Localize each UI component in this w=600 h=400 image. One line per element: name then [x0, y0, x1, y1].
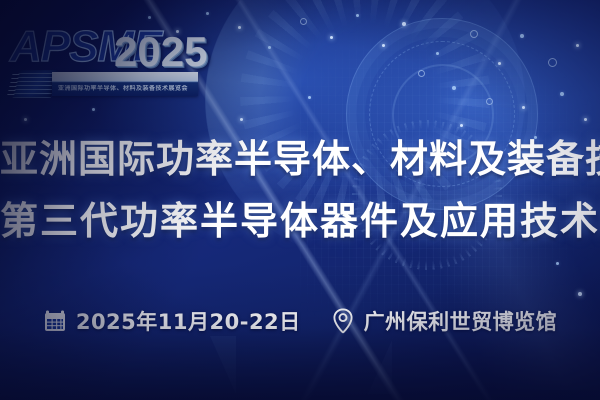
- banner-title-line-2: 第三代功率半导体器件及应用技术展览会: [0, 190, 600, 252]
- location-pin-icon: [331, 308, 355, 334]
- exhibition-banner: APSME 2025 亚洲国际功率半导体、材料及装备技术展览会 亚洲国际功率半导…: [0, 0, 600, 400]
- background-triangle-left: [210, 336, 236, 394]
- calendar-icon: [43, 309, 67, 333]
- event-date-text: 2025年11月20-22日: [76, 306, 301, 336]
- event-date-item: 2025年11月20-22日: [43, 306, 301, 336]
- logo-subtext: 亚洲国际功率半导体、材料及装备技术展览会: [58, 85, 194, 93]
- event-venue-text: 广州保利世贸博览馆: [364, 306, 558, 336]
- logo-year-text: 2025: [114, 28, 207, 76]
- banner-title-line-1: 亚洲国际功率半导体、材料及装备技术展览会: [0, 128, 600, 190]
- banner-info-bar: 2025年11月20-22日 广州保利世贸博览馆: [0, 306, 600, 336]
- event-venue-item: 广州保利世贸博览馆: [331, 306, 558, 336]
- background-triangle-right: [368, 340, 392, 394]
- banner-titles: 亚洲国际功率半导体、材料及装备技术展览会 第三代功率半导体器件及应用技术展览会: [0, 128, 600, 252]
- event-logo: APSME 2025 亚洲国际功率半导体、材料及装备技术展览会: [8, 24, 198, 98]
- semiconductor-chip-icon: [13, 70, 58, 98]
